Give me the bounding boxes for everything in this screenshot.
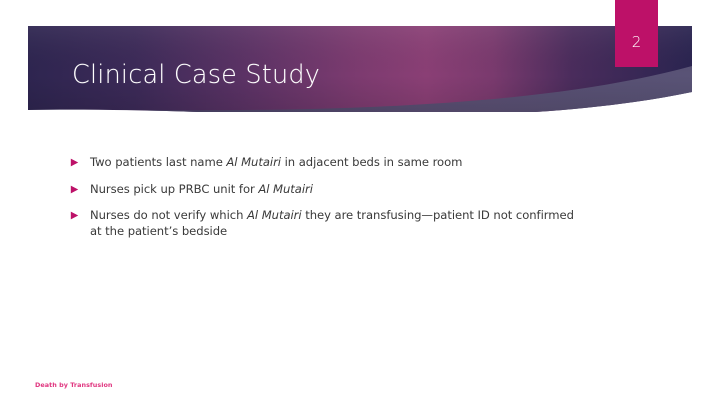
list-item: Nurses do not verify which Al Mutairi th…: [70, 207, 580, 239]
triangle-right-icon: [70, 181, 90, 194]
plain-text: Nurses pick up PRBC unit for: [90, 182, 258, 196]
list-item-text: Nurses pick up PRBC unit for Al Mutairi: [90, 181, 580, 197]
plain-text: Two patients last name: [90, 155, 226, 169]
plain-text: in adjacent beds in same room: [281, 155, 462, 169]
page-title: Clinical Case Study: [72, 60, 320, 90]
list-item: Two patients last name Al Mutairi in adj…: [70, 154, 580, 170]
list-item-text: Nurses do not verify which Al Mutairi th…: [90, 207, 580, 239]
emphasis-text: Al Mutairi: [247, 208, 302, 222]
bullet-list: Two patients last name Al Mutairi in adj…: [70, 154, 580, 250]
triangle-right-icon: [70, 154, 90, 167]
slide-number-label: 2: [615, 34, 658, 50]
list-item-text: Two patients last name Al Mutairi in adj…: [90, 154, 580, 170]
plain-text: Nurses do not verify which: [90, 208, 247, 222]
footer-label: Death by Transfusion: [35, 381, 112, 390]
triangle-right-icon: [70, 207, 90, 220]
emphasis-text: Al Mutairi: [226, 155, 281, 169]
slide-number-tab: 2: [615, 0, 658, 67]
list-item: Nurses pick up PRBC unit for Al Mutairi: [70, 181, 580, 197]
emphasis-text: Al Mutairi: [258, 182, 313, 196]
presentation-slide: Clinical Case Study 2 Two patients last …: [0, 0, 720, 405]
